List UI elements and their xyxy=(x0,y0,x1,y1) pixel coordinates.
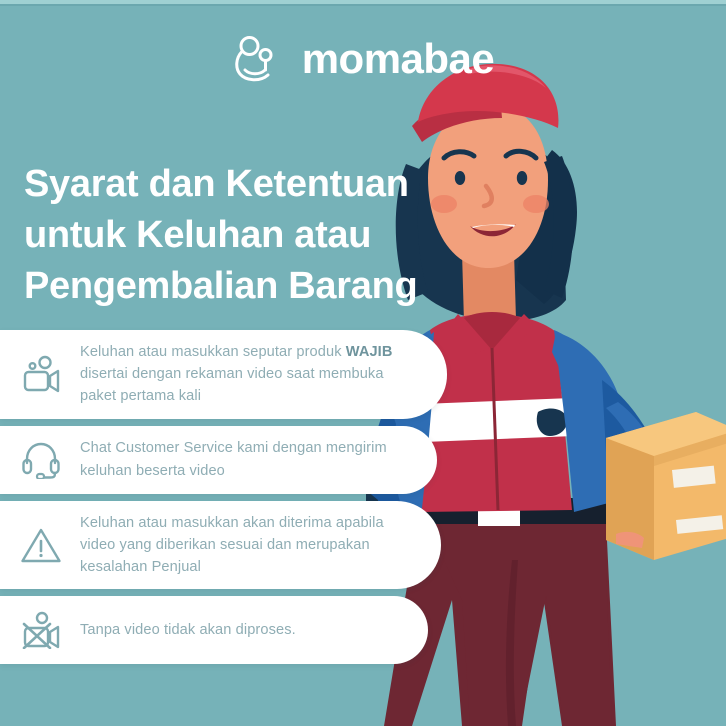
term-item-acceptance-criteria: Keluhan atau masukkan akan diterima apab… xyxy=(0,501,441,590)
term-item-video-required: Keluhan atau masukkan seputar produk WAJ… xyxy=(0,330,447,419)
term-item-contact-cs: Chat Customer Service kami dengan mengir… xyxy=(0,426,437,494)
terms-list: Keluhan atau masukkan seputar produk WAJ… xyxy=(0,330,460,671)
title-line-1: Syarat dan Ketentuan xyxy=(24,159,494,210)
video-off-icon xyxy=(18,607,64,653)
brand-name: momabae xyxy=(302,38,495,80)
brand-logo: momabae xyxy=(0,28,726,90)
title-line-2: untuk Keluhan atau xyxy=(24,210,494,261)
page-title: Syarat dan Ketentuan untuk Keluhan atau … xyxy=(24,159,494,311)
term-item-no-video: Tanpa video tidak akan diproses. xyxy=(0,596,428,664)
term-text-1-bold: WAJIB xyxy=(346,344,393,360)
headset-icon xyxy=(18,437,64,483)
term-text-1-prefix: Keluhan atau masukkan seputar produk xyxy=(80,344,346,360)
poster-canvas: momabae Syarat dan Ketentuan untuk Keluh… xyxy=(0,0,726,726)
term-text-2: Chat Customer Service kami dengan mengir… xyxy=(80,437,407,481)
mother-and-baby-icon xyxy=(232,32,286,86)
eye-right xyxy=(517,171,527,185)
term-text-1-suffix: disertai dengan rekaman video saat membu… xyxy=(80,366,384,404)
title-line-3: Pengembalian Barang xyxy=(24,261,494,312)
video-camera-icon xyxy=(18,351,64,397)
term-text-1: Keluhan atau masukkan seputar produk WAJ… xyxy=(80,341,417,408)
warning-triangle-icon xyxy=(18,522,64,568)
term-text-3: Keluhan atau masukkan akan diterima apab… xyxy=(80,512,411,579)
cheek-right xyxy=(523,195,549,213)
term-text-4: Tanpa video tidak akan diproses. xyxy=(80,619,296,641)
top-edge-strip-shadow xyxy=(0,4,726,6)
